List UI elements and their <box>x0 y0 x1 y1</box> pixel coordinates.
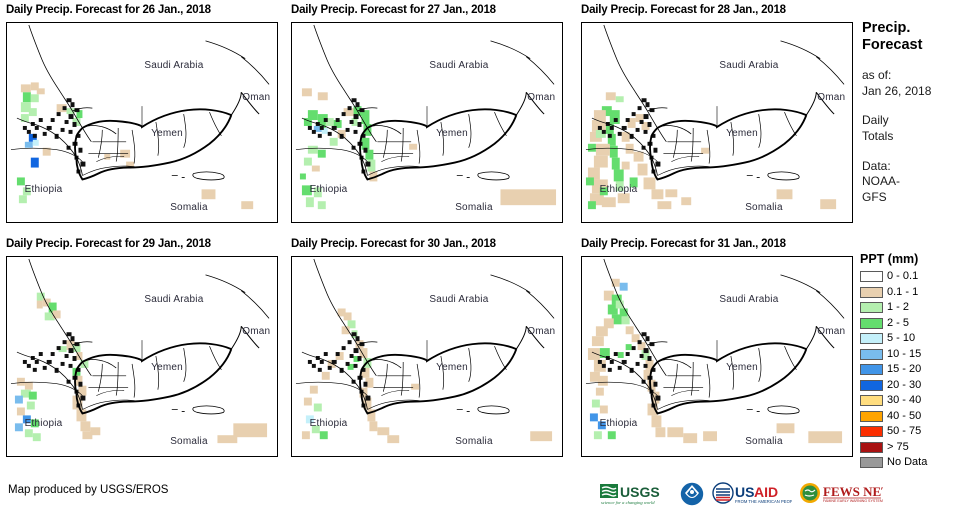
legend-item: 40 - 50 <box>860 409 967 425</box>
legend-swatch <box>860 333 883 344</box>
fews-net-logo: FEWS NET FAMINE EARLY WARNING SYSTEMS NE… <box>799 481 883 507</box>
panel-31jan: Daily Precip. Forecast for 31 Jan., 2018 <box>581 238 853 250</box>
legend-label: 50 - 75 <box>887 426 921 437</box>
country-label-oman: Oman <box>242 92 270 103</box>
country-label-saudi-arabia: Saudi Arabia <box>719 294 778 305</box>
legend-item: 0.1 - 1 <box>860 285 967 301</box>
legend-swatch <box>860 364 883 375</box>
legend-label: No Data <box>887 457 927 468</box>
legend-swatch <box>860 318 883 329</box>
panel-title: Daily Precip. Forecast for 28 Jan., 2018 <box>581 4 853 16</box>
country-label-yemen: Yemen <box>151 362 183 373</box>
legend-swatch <box>860 411 883 422</box>
rail-title: Precip. Forecast <box>862 20 965 54</box>
country-label-ethiopia: Ethiopia <box>25 418 63 429</box>
country-label-oman: Oman <box>817 326 845 337</box>
legend-label: 0.1 - 1 <box>887 287 918 298</box>
rail-totals-block: Daily Totals <box>862 113 965 144</box>
svg-text:FEWS NET: FEWS NET <box>823 484 883 499</box>
legend-item: 30 - 40 <box>860 393 967 409</box>
country-label-oman: Oman <box>817 92 845 103</box>
country-label-ethiopia: Ethiopia <box>25 184 63 195</box>
agency-logos: USGS science for a changing world US AID… <box>600 481 883 507</box>
svg-text:science for a changing world: science for a changing world <box>601 500 655 505</box>
country-label-saudi-arabia: Saudi Arabia <box>144 294 203 305</box>
rail-data-line1: NOAA- <box>862 174 965 190</box>
country-label-saudi-arabia: Saudi Arabia <box>429 60 488 71</box>
legend-item: 2 - 5 <box>860 316 967 332</box>
legend-item: 50 - 75 <box>860 424 967 440</box>
legend-label: 10 - 15 <box>887 349 921 360</box>
country-label-yemen: Yemen <box>726 362 758 373</box>
country-label-ethiopia: Ethiopia <box>600 184 638 195</box>
svg-text:USGS: USGS <box>620 484 660 500</box>
panel-title: Daily Precip. Forecast for 27 Jan., 2018 <box>291 4 563 16</box>
noaa-logo <box>679 481 705 507</box>
legend-swatch <box>860 457 883 468</box>
country-label-oman: Oman <box>527 92 555 103</box>
legend-item: 10 - 15 <box>860 347 967 363</box>
legend-rows: 0 - 0.10.1 - 11 - 22 - 55 - 1010 - 1515 … <box>860 269 967 471</box>
usgs-logo: USGS science for a changing world <box>600 481 672 507</box>
country-label-ethiopia: Ethiopia <box>310 184 348 195</box>
legend-item: 5 - 10 <box>860 331 967 347</box>
country-label-somalia: Somalia <box>455 202 493 213</box>
panel-29jan: Daily Precip. Forecast for 29 Jan., 2018 <box>6 238 278 250</box>
map-frame[interactable]: Saudi ArabiaOmanYemenEthiopiaSomalia <box>6 22 278 223</box>
panel-26jan: Daily Precip. Forecast for 26 Jan., 2018 <box>6 4 278 16</box>
map-frame[interactable]: Saudi ArabiaOmanYemenEthiopiaSomalia <box>581 256 853 457</box>
legend-label: 5 - 10 <box>887 333 915 344</box>
rail-totals-line1: Daily <box>862 113 965 129</box>
map-credit: Map produced by USGS/EROS <box>8 484 168 496</box>
legend-swatch <box>860 287 883 298</box>
country-label-yemen: Yemen <box>436 362 468 373</box>
legend-swatch <box>860 349 883 360</box>
legend-swatch <box>860 426 883 437</box>
panel-28jan: Daily Precip. Forecast for 28 Jan., 2018 <box>581 4 853 16</box>
legend-label: > 75 <box>887 442 909 453</box>
legend-item: > 75 <box>860 440 967 456</box>
rail-title-line1: Precip. <box>862 20 965 37</box>
usaid-logo: US AID FROM THE AMERICAN PEOPLE <box>712 481 792 507</box>
country-label-oman: Oman <box>527 326 555 337</box>
legend-label: 40 - 50 <box>887 411 921 422</box>
legend-item: 15 - 20 <box>860 362 967 378</box>
country-label-somalia: Somalia <box>455 436 493 447</box>
rail-asof-date: Jan 26, 2018 <box>862 84 965 100</box>
map-frame[interactable]: Saudi ArabiaOmanYemenEthiopiaSomalia <box>581 22 853 223</box>
country-label-somalia: Somalia <box>745 202 783 213</box>
svg-text:AID: AID <box>754 484 778 500</box>
svg-text:FROM THE AMERICAN PEOPLE: FROM THE AMERICAN PEOPLE <box>735 499 792 504</box>
country-label-ethiopia: Ethiopia <box>600 418 638 429</box>
country-label-yemen: Yemen <box>436 128 468 139</box>
country-label-yemen: Yemen <box>726 128 758 139</box>
rail-data-block: Data: NOAA- GFS <box>862 159 965 206</box>
legend-label: 15 - 20 <box>887 364 921 375</box>
rail-data-label: Data: <box>862 159 965 175</box>
country-label-somalia: Somalia <box>170 436 208 447</box>
legend-item: 0 - 0.1 <box>860 269 967 285</box>
panel-27jan: Daily Precip. Forecast for 27 Jan., 2018 <box>291 4 563 16</box>
rail-title-line2: Forecast <box>862 37 965 54</box>
rail-totals-line2: Totals <box>862 129 965 145</box>
legend-label: 20 - 30 <box>887 380 921 391</box>
svg-text:US: US <box>735 484 754 500</box>
legend-label: 2 - 5 <box>887 318 909 329</box>
panel-title: Daily Precip. Forecast for 31 Jan., 2018 <box>581 238 853 250</box>
panel-title: Daily Precip. Forecast for 26 Jan., 2018 <box>6 4 278 16</box>
country-label-somalia: Somalia <box>745 436 783 447</box>
legend-swatch <box>860 302 883 313</box>
country-label-ethiopia: Ethiopia <box>310 418 348 429</box>
panel-30jan: Daily Precip. Forecast for 30 Jan., 2018 <box>291 238 563 250</box>
legend-item: No Data <box>860 455 967 471</box>
legend-label: 0 - 0.1 <box>887 271 918 282</box>
legend-title: PPT (mm) <box>860 252 967 266</box>
legend-swatch <box>860 380 883 391</box>
country-label-yemen: Yemen <box>151 128 183 139</box>
map-frame[interactable]: Saudi ArabiaOmanYemenEthiopiaSomalia <box>291 256 563 457</box>
precipitation-legend: PPT (mm) 0 - 0.10.1 - 11 - 22 - 55 - 101… <box>860 252 967 471</box>
legend-swatch <box>860 271 883 282</box>
map-frame[interactable]: Saudi ArabiaOmanYemenEthiopiaSomalia <box>291 22 563 223</box>
forecast-info-rail: Precip. Forecast as of: Jan 26, 2018 Dai… <box>862 6 965 205</box>
country-label-somalia: Somalia <box>170 202 208 213</box>
legend-label: 1 - 2 <box>887 302 909 313</box>
country-label-saudi-arabia: Saudi Arabia <box>719 60 778 71</box>
rail-asof-block: as of: Jan 26, 2018 <box>862 68 965 99</box>
svg-text:FAMINE EARLY WARNING SYSTEMS N: FAMINE EARLY WARNING SYSTEMS NETWORK <box>823 499 883 503</box>
rail-asof-label: as of: <box>862 68 965 84</box>
map-frame[interactable]: Saudi ArabiaOmanYemenEthiopiaSomalia <box>6 256 278 457</box>
legend-item: 20 - 30 <box>860 378 967 394</box>
panel-title: Daily Precip. Forecast for 30 Jan., 2018 <box>291 238 563 250</box>
legend-swatch <box>860 395 883 406</box>
country-label-oman: Oman <box>242 326 270 337</box>
legend-swatch <box>860 442 883 453</box>
panel-title: Daily Precip. Forecast for 29 Jan., 2018 <box>6 238 278 250</box>
country-label-saudi-arabia: Saudi Arabia <box>144 60 203 71</box>
legend-label: 30 - 40 <box>887 395 921 406</box>
rail-data-line2: GFS <box>862 190 965 206</box>
legend-item: 1 - 2 <box>860 300 967 316</box>
country-label-saudi-arabia: Saudi Arabia <box>429 294 488 305</box>
